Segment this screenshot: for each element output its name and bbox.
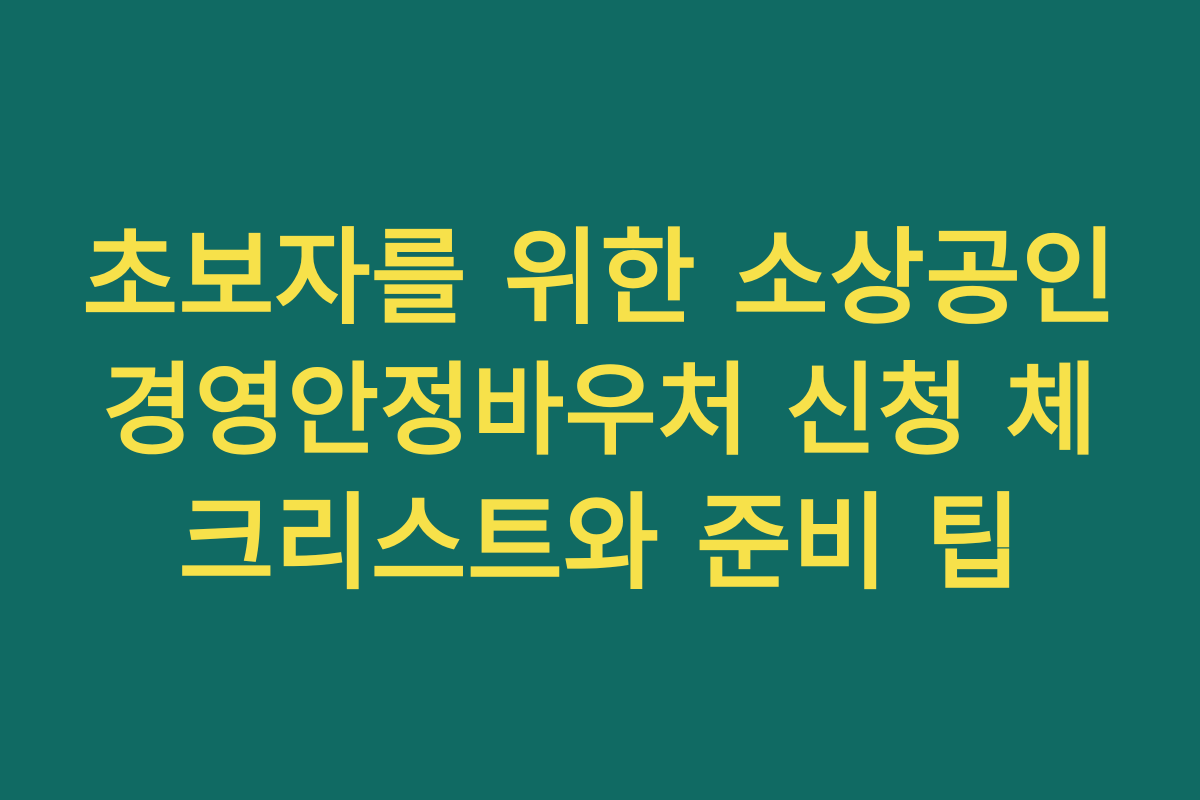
headline-line-3: 크리스트와 준비 팁 bbox=[40, 476, 1160, 611]
headline-line-2: 경영안정바우처 신청 체 bbox=[40, 346, 1160, 476]
headline-block: 초보자를 위한 소상공인 경영안정바우처 신청 체 크리스트와 준비 팁 bbox=[40, 211, 1160, 611]
title-card: 초보자를 위한 소상공인 경영안정바우처 신청 체 크리스트와 준비 팁 bbox=[0, 0, 1200, 800]
headline-line-1: 초보자를 위한 소상공인 bbox=[40, 211, 1160, 346]
